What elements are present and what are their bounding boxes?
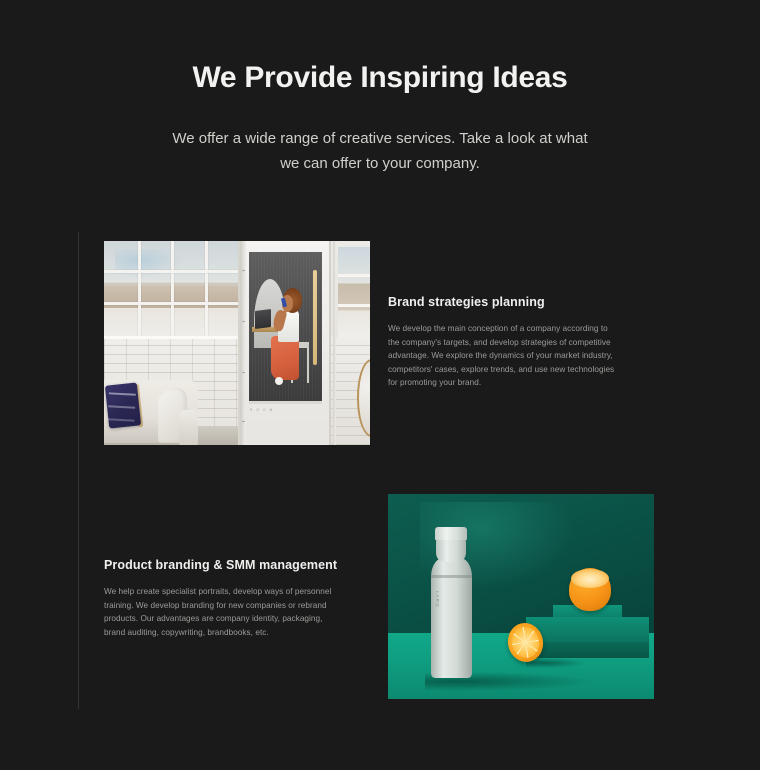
sofa-arm-secondary: [179, 410, 198, 445]
water-bottle: LARQ: [431, 527, 472, 679]
halved-orange-on-step: [569, 568, 612, 611]
photo-left-pane: [104, 241, 238, 445]
services-page: We Provide Inspiring Ideas We offer a wi…: [0, 0, 760, 770]
office-loft-photo: R O O M: [104, 241, 370, 445]
bottle-seam: [431, 575, 472, 577]
left-vertical-divider: [78, 232, 79, 709]
page-subtitle: We offer a wide range of creative servic…: [170, 98, 590, 176]
booth-light-strip: [313, 270, 317, 365]
booth-door-jamb: [240, 241, 246, 445]
booth-interior: [249, 252, 322, 401]
booth-threshold: [249, 401, 322, 404]
product-bottle-photo: LARQ: [388, 494, 654, 699]
section-text-product-branding-smm-management: Product branding & SMM management We hel…: [104, 557, 340, 639]
page-title: We Provide Inspiring Ideas: [0, 0, 760, 98]
section-body: We help create specialist portraits, dev…: [104, 585, 340, 639]
booth-room-label: R O O M: [250, 408, 274, 413]
right-window: [338, 247, 370, 337]
step-front-face: [526, 642, 648, 658]
section-title: Product branding & SMM management: [104, 557, 340, 573]
section-image-brand-strategies-planning: R O O M: [104, 241, 370, 445]
navy-pillow: [105, 382, 141, 428]
page-header: We Provide Inspiring Ideas We offer a wi…: [0, 0, 760, 176]
section-image-product-branding-smm-management: LARQ: [388, 494, 654, 699]
bottle-brand-logo: LARQ: [435, 591, 440, 608]
structural-post: [333, 241, 337, 445]
phone-booth-panel: R O O M: [238, 241, 331, 445]
section-body: We develop the main conception of a comp…: [388, 322, 620, 390]
bottle-cap: [435, 527, 467, 541]
section-text-brand-strategies-planning: Brand strategies planning We develop the…: [388, 294, 620, 390]
orange-shadow: [526, 658, 585, 668]
bottle-neck: [436, 539, 467, 562]
laptop: [255, 309, 271, 329]
photo-right-pane: [329, 241, 370, 445]
section-title: Brand strategies planning: [388, 294, 620, 310]
person-trousers: [271, 336, 299, 381]
